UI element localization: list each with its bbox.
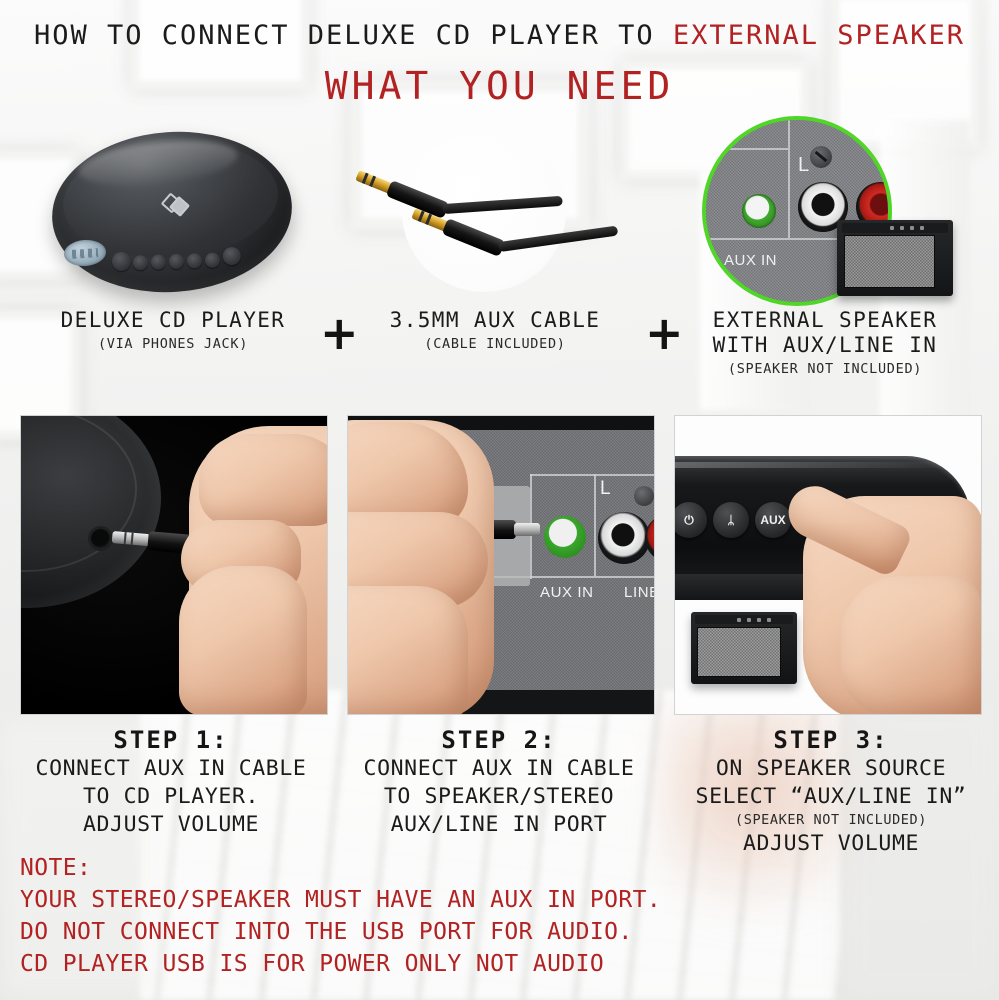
aux-cable-photo (350, 110, 640, 308)
what-you-need-row: DELUXE CD PLAYER (VIA PHONES JACK) + 3.5… (0, 110, 999, 400)
page-subtitle: WHAT YOU NEED (0, 64, 999, 108)
photo2-aux-in-port (544, 516, 586, 558)
photo3-knuckles (841, 576, 981, 715)
photo2-line-label: LINE (624, 584, 655, 601)
cd-player-photo (18, 110, 328, 308)
photo1-phones-jack (91, 529, 110, 548)
photo2-panel-screw-icon (634, 486, 654, 506)
external-speaker-photo: L R AUX IN (660, 110, 990, 308)
panel-left-label: L (798, 154, 810, 177)
mini-speaker-grille (844, 235, 935, 288)
page-title-red-part: EXTERNAL SPEAKER (673, 20, 965, 51)
step-photos-row: AUX IN LINE L ⏻ ᛦ AUX − + (0, 415, 999, 715)
note-line-2: DO NOT CONNECT INTO THE USB PORT FOR AUD… (20, 916, 661, 948)
note-block: NOTE: YOUR STEREO/SPEAKER MUST HAVE AN A… (20, 852, 661, 980)
step-2-photo: AUX IN LINE L (347, 415, 655, 715)
speaker-panel-illustration: L R AUX IN (682, 112, 972, 308)
note-line-3: CD PLAYER USB IS FOR POWER ONLY NOT AUDI… (20, 948, 661, 980)
step-2-line-1: CONNECT AUX IN CABLE (340, 755, 658, 783)
need-sublabel-aux-cable: (CABLE INCLUDED) (350, 336, 640, 352)
step-2-title: STEP 2: (340, 725, 658, 755)
step-2-line-2: TO SPEAKER/STEREO (340, 783, 658, 811)
step-1-title: STEP 1: (12, 725, 330, 755)
step-3-disclaimer: (SPEAKER NOT INCLUDED) (670, 811, 992, 830)
page-title-black-part: HOW TO CONNECT DELUXE CD PLAYER TO (34, 20, 673, 51)
step-3-line-1: ON SPEAKER SOURCE (670, 755, 992, 783)
photo1-thumb (179, 566, 307, 715)
aux-cable-illustration (386, 118, 606, 304)
photo1-finger (199, 434, 328, 526)
photo2-left-label: L (600, 478, 611, 500)
note-line-1: YOUR STEREO/SPEAKER MUST HAVE AN AUX IN … (20, 884, 661, 916)
step-1-line-2: TO CD PLAYER. (12, 783, 330, 811)
panel-aux-in-label: AUX IN (724, 252, 777, 269)
photo3-aux-button[interactable]: AUX (755, 502, 791, 538)
need-sublabel-external-speaker: (SPEAKER NOT INCLUDED) (660, 361, 990, 377)
photo3-bluetooth-button[interactable]: ᛦ (713, 502, 749, 538)
photo2-aux-in-label: AUX IN (540, 584, 594, 601)
need-label-aux-cable: 3.5MM AUX CABLE (350, 308, 640, 333)
step-3-caption: STEP 3: ON SPEAKER SOURCE SELECT “AUX/LI… (670, 725, 992, 858)
step-3-line-3: ADJUST VOLUME (670, 830, 992, 858)
note-heading: NOTE: (20, 852, 661, 884)
panel-right-label: R (878, 154, 892, 177)
need-label-external-speaker-line2: WITH AUX/LINE IN (660, 333, 990, 358)
panel-divider-line (788, 120, 790, 238)
need-item-external-speaker: L R AUX IN EXTERNAL SPEAKER WITH AUX/LIN… (660, 110, 990, 400)
mini-speaker-controls (842, 223, 948, 233)
step-3-photo: ⏻ ᛦ AUX − + (674, 415, 982, 715)
page-title: HOW TO CONNECT DELUXE CD PLAYER TO EXTER… (0, 20, 999, 51)
infographic-page: HOW TO CONNECT DELUXE CD PLAYER TO EXTER… (0, 0, 999, 1000)
need-sublabel-cd-player: (VIA PHONES JACK) (18, 336, 328, 352)
cd-player-illustration (52, 132, 292, 292)
step-1-photo (20, 415, 328, 715)
step-3-line-2: SELECT “AUX/LINE IN” (670, 783, 992, 811)
need-label-external-speaker-line1: EXTERNAL SPEAKER (660, 308, 990, 333)
cd-player-buttons (112, 248, 243, 279)
need-label-cd-player: DELUXE CD PLAYER (18, 308, 328, 333)
photo3-mini-speaker (691, 612, 797, 684)
need-item-cd-player: DELUXE CD PLAYER (VIA PHONES JACK) (18, 110, 328, 400)
photo2-divider-line (530, 474, 655, 476)
panel-divider-line (706, 148, 788, 150)
photo2-rca-left-port (598, 512, 650, 564)
brand-logo-icon (163, 193, 193, 219)
need-item-aux-cable: 3.5MM AUX CABLE (CABLE INCLUDED) (350, 110, 640, 400)
step-2-line-3: AUX/LINE IN PORT (340, 811, 658, 839)
photo3-mini-speaker-grille (697, 627, 781, 677)
aux-in-jack (742, 194, 776, 228)
photo2-divider-line (594, 474, 596, 576)
mini-speaker-illustration (837, 220, 953, 296)
photo2-thumb (347, 586, 468, 715)
step-1-line-1: CONNECT AUX IN CABLE (12, 755, 330, 783)
step-1-line-3: ADJUST VOLUME (12, 811, 330, 839)
step-2-caption: STEP 2: CONNECT AUX IN CABLE TO SPEAKER/… (340, 725, 658, 839)
step-3-title: STEP 3: (670, 725, 992, 755)
panel-screw-icon (810, 146, 832, 168)
step-1-caption: STEP 1: CONNECT AUX IN CABLE TO CD PLAYE… (12, 725, 330, 839)
photo3-mini-speaker-controls (695, 615, 793, 624)
